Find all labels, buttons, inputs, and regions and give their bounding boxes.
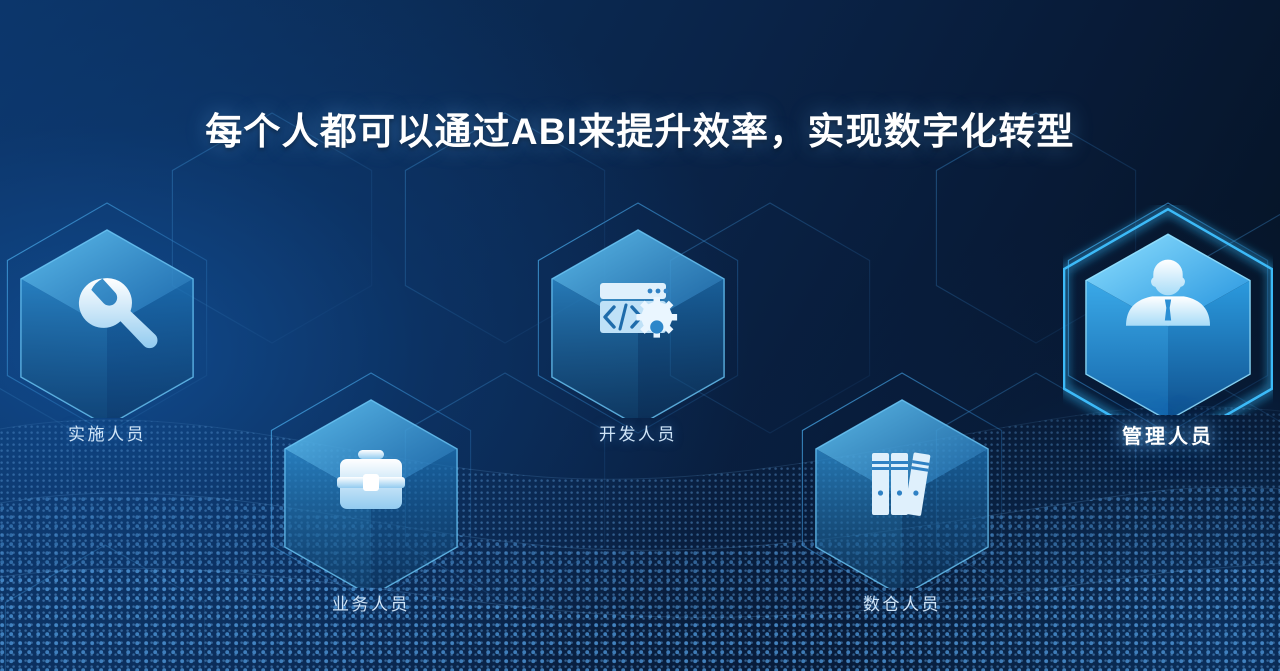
node-implementation[interactable]: 实施人员 [7, 218, 207, 438]
binders-icon [802, 388, 1002, 588]
node-business[interactable]: 业务人员 [271, 388, 471, 608]
node-developer[interactable]: 开发人员 [538, 218, 738, 438]
node-label: 管理人员 [1038, 420, 1280, 449]
node-label: 开发人员 [508, 420, 768, 445]
briefcase-icon [271, 388, 471, 588]
node-label: 实施人员 [0, 420, 237, 445]
node-label: 业务人员 [241, 590, 501, 615]
node-data-warehouse[interactable]: 数仓人员 [802, 388, 1002, 608]
page-title: 每个人都可以通过ABI来提升效率，实现数字化转型 [0, 101, 1280, 155]
node-management[interactable]: 管理人员 [1068, 210, 1268, 430]
person-manager-icon [1063, 205, 1273, 415]
code-window-gear-icon [538, 218, 738, 418]
slide-stage: 每个人都可以通过ABI来提升效率，实现数字化转型 [0, 0, 1280, 671]
wrench-icon [7, 218, 207, 418]
node-label: 数仓人员 [772, 590, 1032, 615]
